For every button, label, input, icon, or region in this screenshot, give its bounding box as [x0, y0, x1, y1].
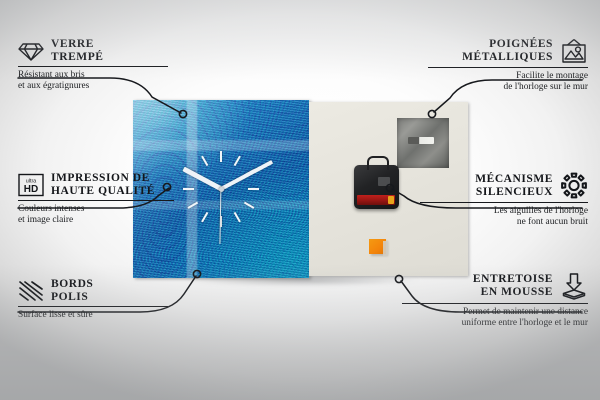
callout-description: Les aiguilles de l'horloge ne font aucun… [420, 206, 588, 228]
callout-description: Facilite le montage de l'horloge sur le … [428, 71, 588, 93]
movement-label [378, 177, 390, 186]
callout-title: IMPRESSION DE HAUTE QUALITÉ [51, 172, 155, 197]
callout-entretoise-en-mousse: ENTRETOISE EN MOUSSE Permet de maintenir… [402, 272, 588, 329]
quartz-movement [354, 165, 399, 209]
callout-header: BORDS POLIS [18, 278, 168, 303]
callout-divider [18, 200, 174, 201]
callout-description: Couleurs intenses et image claire [18, 204, 174, 226]
callout-divider [402, 303, 588, 304]
diamond-icon [18, 40, 44, 62]
callout-header: POIGNÉES MÉTALLIQUES [428, 38, 588, 64]
callout-impression-haute-qualite: ultra HD IMPRESSION DE HAUTE QUALITÉ Cou… [18, 172, 174, 226]
callout-divider [18, 306, 168, 307]
hanger-loop [367, 156, 389, 170]
callout-title: POIGNÉES MÉTALLIQUES [462, 38, 553, 63]
callout-title: MÉCANISME SILENCIEUX [475, 173, 553, 198]
callout-poignees-metalliques: POIGNÉES MÉTALLIQUES Facilite le montage… [428, 38, 588, 93]
callout-description: Permet de maintenir une distance uniform… [402, 307, 588, 329]
callout-title: ENTRETOISE EN MOUSSE [473, 273, 553, 298]
ultra-hd-icon: ultra HD [18, 173, 44, 197]
callout-divider [18, 66, 168, 67]
foam-spacer [369, 239, 386, 254]
bracket-keyhole-slot [408, 137, 434, 144]
polished-edge-icon [18, 280, 44, 302]
callout-title: BORDS POLIS [51, 278, 93, 303]
callout-verre-trempe: VERRE TREMPÉ Résistant aux bris et aux é… [18, 38, 168, 92]
callout-description: Surface lisse et sûre [18, 310, 168, 321]
callout-header: VERRE TREMPÉ [18, 38, 168, 63]
clock-center-hub [219, 187, 224, 192]
callout-divider [420, 202, 588, 203]
callout-title: VERRE TREMPÉ [51, 38, 104, 63]
callout-description: Résistant aux bris et aux égratignures [18, 70, 168, 92]
callout-header: MÉCANISME SILENCIEUX [420, 172, 588, 199]
battery [357, 195, 395, 205]
foam-spacer-icon [560, 272, 588, 300]
gear-icon [560, 172, 588, 199]
product-image [133, 100, 468, 282]
callout-divider [428, 67, 588, 68]
callout-header: ENTRETOISE EN MOUSSE [402, 272, 588, 300]
hanging-frame-icon [560, 38, 588, 64]
callout-bords-polis: BORDS POLIS Surface lisse et sûre [18, 278, 168, 321]
callout-mecanisme-silencieux: MÉCANISME SILENCIEUX Les aiguilles de l'… [420, 172, 588, 228]
infographic-canvas: VERRE TREMPÉ Résistant aux bris et aux é… [0, 0, 600, 400]
callout-header: ultra HD IMPRESSION DE HAUTE QUALITÉ [18, 172, 174, 197]
svg-text:HD: HD [24, 184, 38, 195]
metal-hanger-bracket [397, 118, 449, 168]
